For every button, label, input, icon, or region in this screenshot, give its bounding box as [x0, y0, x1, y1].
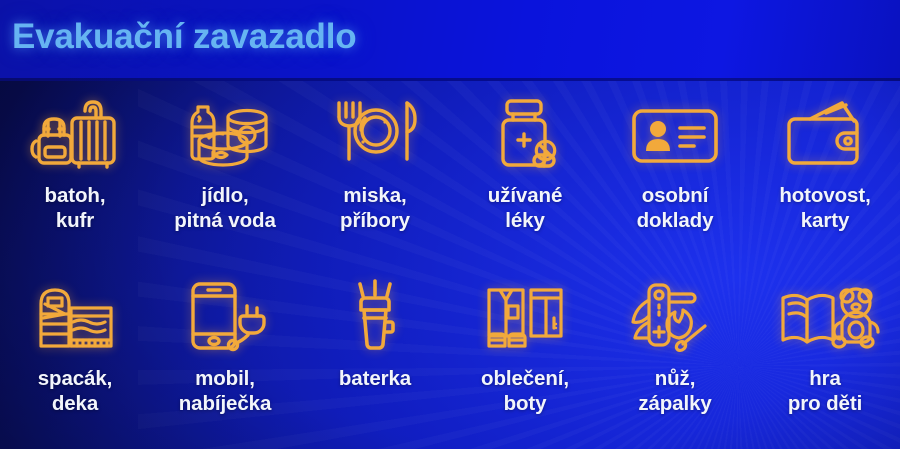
item-label: miska, příbory	[340, 183, 410, 233]
poster-header: Evakuační zavazadlo	[0, 0, 900, 81]
sleeping-bag-icon	[20, 277, 130, 357]
page-title: Evakuační zavazadlo	[12, 17, 356, 57]
food-water-icon	[170, 94, 280, 174]
item-sleeping-bag[interactable]: spacák, deka	[0, 267, 150, 449]
item-label: hotovost, karty	[779, 183, 870, 233]
item-game-for-children[interactable]: hra pro děti	[750, 267, 900, 449]
item-id-documents[interactable]: osobní doklady	[600, 84, 750, 267]
items-grid: batoh, kufr	[0, 84, 900, 449]
flashlight-icon	[320, 277, 430, 357]
item-label: oblečení, boty	[481, 366, 569, 416]
knife-matches-icon	[620, 277, 730, 357]
backpack-suitcase-icon	[20, 94, 130, 174]
item-label: užívané léky	[488, 183, 563, 233]
item-food-water[interactable]: jídlo, pitná voda	[150, 84, 300, 267]
item-clothes-shoes[interactable]: oblečení, boty	[450, 267, 600, 449]
medicine-bottle-icon	[470, 94, 580, 174]
item-flashlight[interactable]: baterka	[300, 267, 450, 449]
item-label: osobní doklady	[637, 183, 714, 233]
item-label: batoh, kufr	[45, 183, 106, 233]
item-cash-cards[interactable]: hotovost, karty	[750, 84, 900, 267]
clothes-shoes-icon	[470, 277, 580, 357]
item-medicine[interactable]: užívané léky	[450, 84, 600, 267]
item-phone-charger[interactable]: mobil, nabíječka	[150, 267, 300, 449]
item-label: jídlo, pitná voda	[174, 183, 276, 233]
bowl-cutlery-icon	[320, 94, 430, 174]
item-label: baterka	[339, 366, 411, 391]
item-knife-matches[interactable]: nůž, zápalky	[600, 267, 750, 449]
item-label: spacák, deka	[38, 366, 113, 416]
item-bowl-cutlery[interactable]: miska, příbory	[300, 84, 450, 267]
poster-board: Evakuační zavazadlo	[0, 0, 900, 449]
book-teddy-icon	[770, 277, 880, 357]
item-backpack-suitcase[interactable]: batoh, kufr	[0, 84, 150, 267]
item-label: hra pro děti	[788, 366, 862, 416]
phone-charger-icon	[170, 277, 280, 357]
wallet-icon	[770, 94, 880, 174]
item-label: nůž, zápalky	[638, 366, 711, 416]
item-label: mobil, nabíječka	[179, 366, 272, 416]
id-card-icon	[620, 94, 730, 174]
